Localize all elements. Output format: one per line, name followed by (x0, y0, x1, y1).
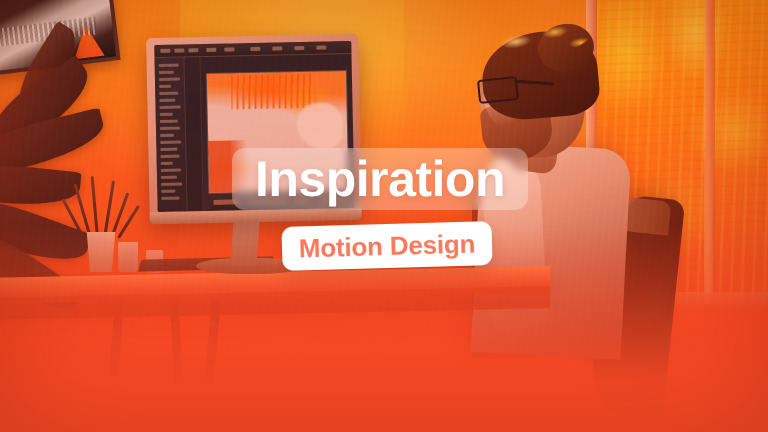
page-title: Inspiration (255, 154, 505, 204)
subtitle-label: Motion Design (298, 231, 475, 262)
title-panel: Inspiration (232, 148, 528, 210)
app-secondary-panel (184, 57, 203, 211)
app-left-panel (154, 57, 187, 212)
monitor-stand-neck (230, 218, 259, 266)
cup (118, 242, 138, 272)
glasses-icon (477, 76, 519, 104)
plant-leaf (0, 160, 82, 211)
preview-brush-streaks (231, 74, 316, 110)
desk-plant-foliage (78, 176, 126, 238)
subtitle-badge: Motion Design (281, 221, 492, 271)
hero-banner: Inspiration Motion Design (0, 0, 768, 432)
app-toolbar (154, 41, 351, 58)
